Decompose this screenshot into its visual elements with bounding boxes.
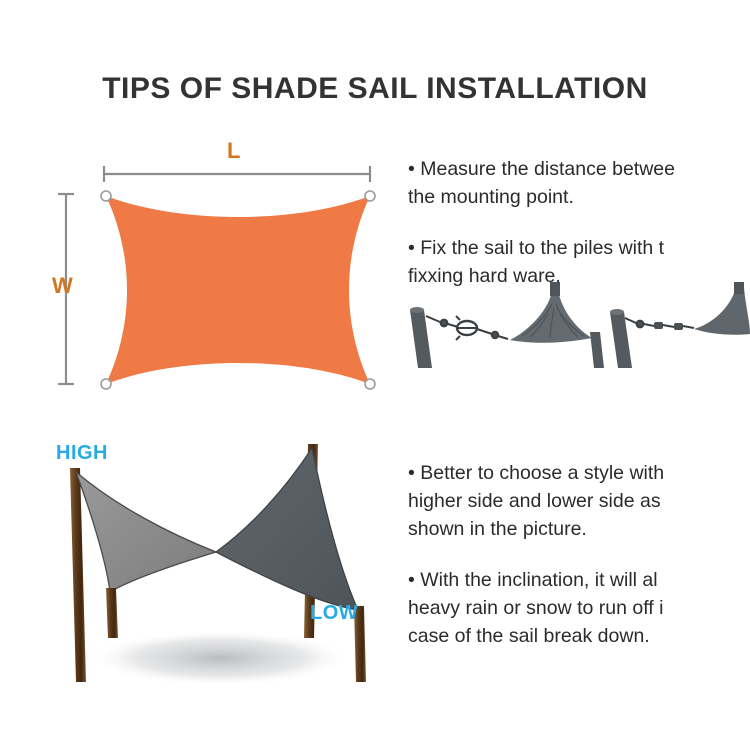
width-label: W <box>52 273 73 299</box>
tip-line: heavy rain or snow to run off i <box>408 594 750 622</box>
post-back-left <box>70 468 86 682</box>
tip-line: • Fix the sail to the piles with t <box>408 234 750 262</box>
right-sail-corner <box>694 282 750 335</box>
low-label: LOW <box>310 602 358 625</box>
left-turnbuckle <box>426 316 508 340</box>
length-dimension-line <box>104 166 370 182</box>
canopy-svg <box>20 430 410 715</box>
shade-sail-shape <box>106 196 370 384</box>
tip-line: the mounting point. <box>408 183 750 211</box>
paragraph-spacer <box>408 211 750 234</box>
high-low-canopy-diagram: HIGH LOW <box>20 430 410 715</box>
post-front-left-short <box>106 588 118 638</box>
right-shackle-chain <box>625 318 694 330</box>
sail-light-left <box>76 472 216 592</box>
tip-line: • Measure the distance betwee <box>408 155 750 183</box>
tip-line: case of the sail break down. <box>408 622 750 650</box>
hardware-left-assembly <box>410 282 604 368</box>
tips-top-block: • Measure the distance betwee the mounti… <box>408 155 750 290</box>
tip-line: • Better to choose a style with <box>408 459 750 487</box>
high-label: HIGH <box>56 442 108 465</box>
tips-bottom-block: • Better to choose a style with higher s… <box>408 459 750 650</box>
length-label: L <box>227 138 240 164</box>
tip-line: • With the inclination, it will al <box>408 566 750 594</box>
ground-shadow <box>90 630 350 686</box>
right-pole <box>610 309 632 368</box>
tip-line: shown in the picture. <box>408 515 750 543</box>
rectangle-sail-diagram: L W <box>40 140 400 402</box>
left-sail-corner <box>510 282 604 368</box>
sail-dark-right <box>216 448 358 610</box>
rectangle-sail-svg <box>40 140 400 402</box>
paragraph-spacer <box>408 543 750 566</box>
tip-line: higher side and lower side as <box>408 487 750 515</box>
hardware-svg <box>400 282 750 368</box>
page-title: TIPS OF SHADE SAIL INSTALLATION <box>0 72 750 106</box>
fixing-hardware-illustrations <box>400 282 750 368</box>
hardware-right-assembly <box>610 282 750 368</box>
infographic-page: TIPS OF SHADE SAIL INSTALLATION <box>0 0 750 750</box>
